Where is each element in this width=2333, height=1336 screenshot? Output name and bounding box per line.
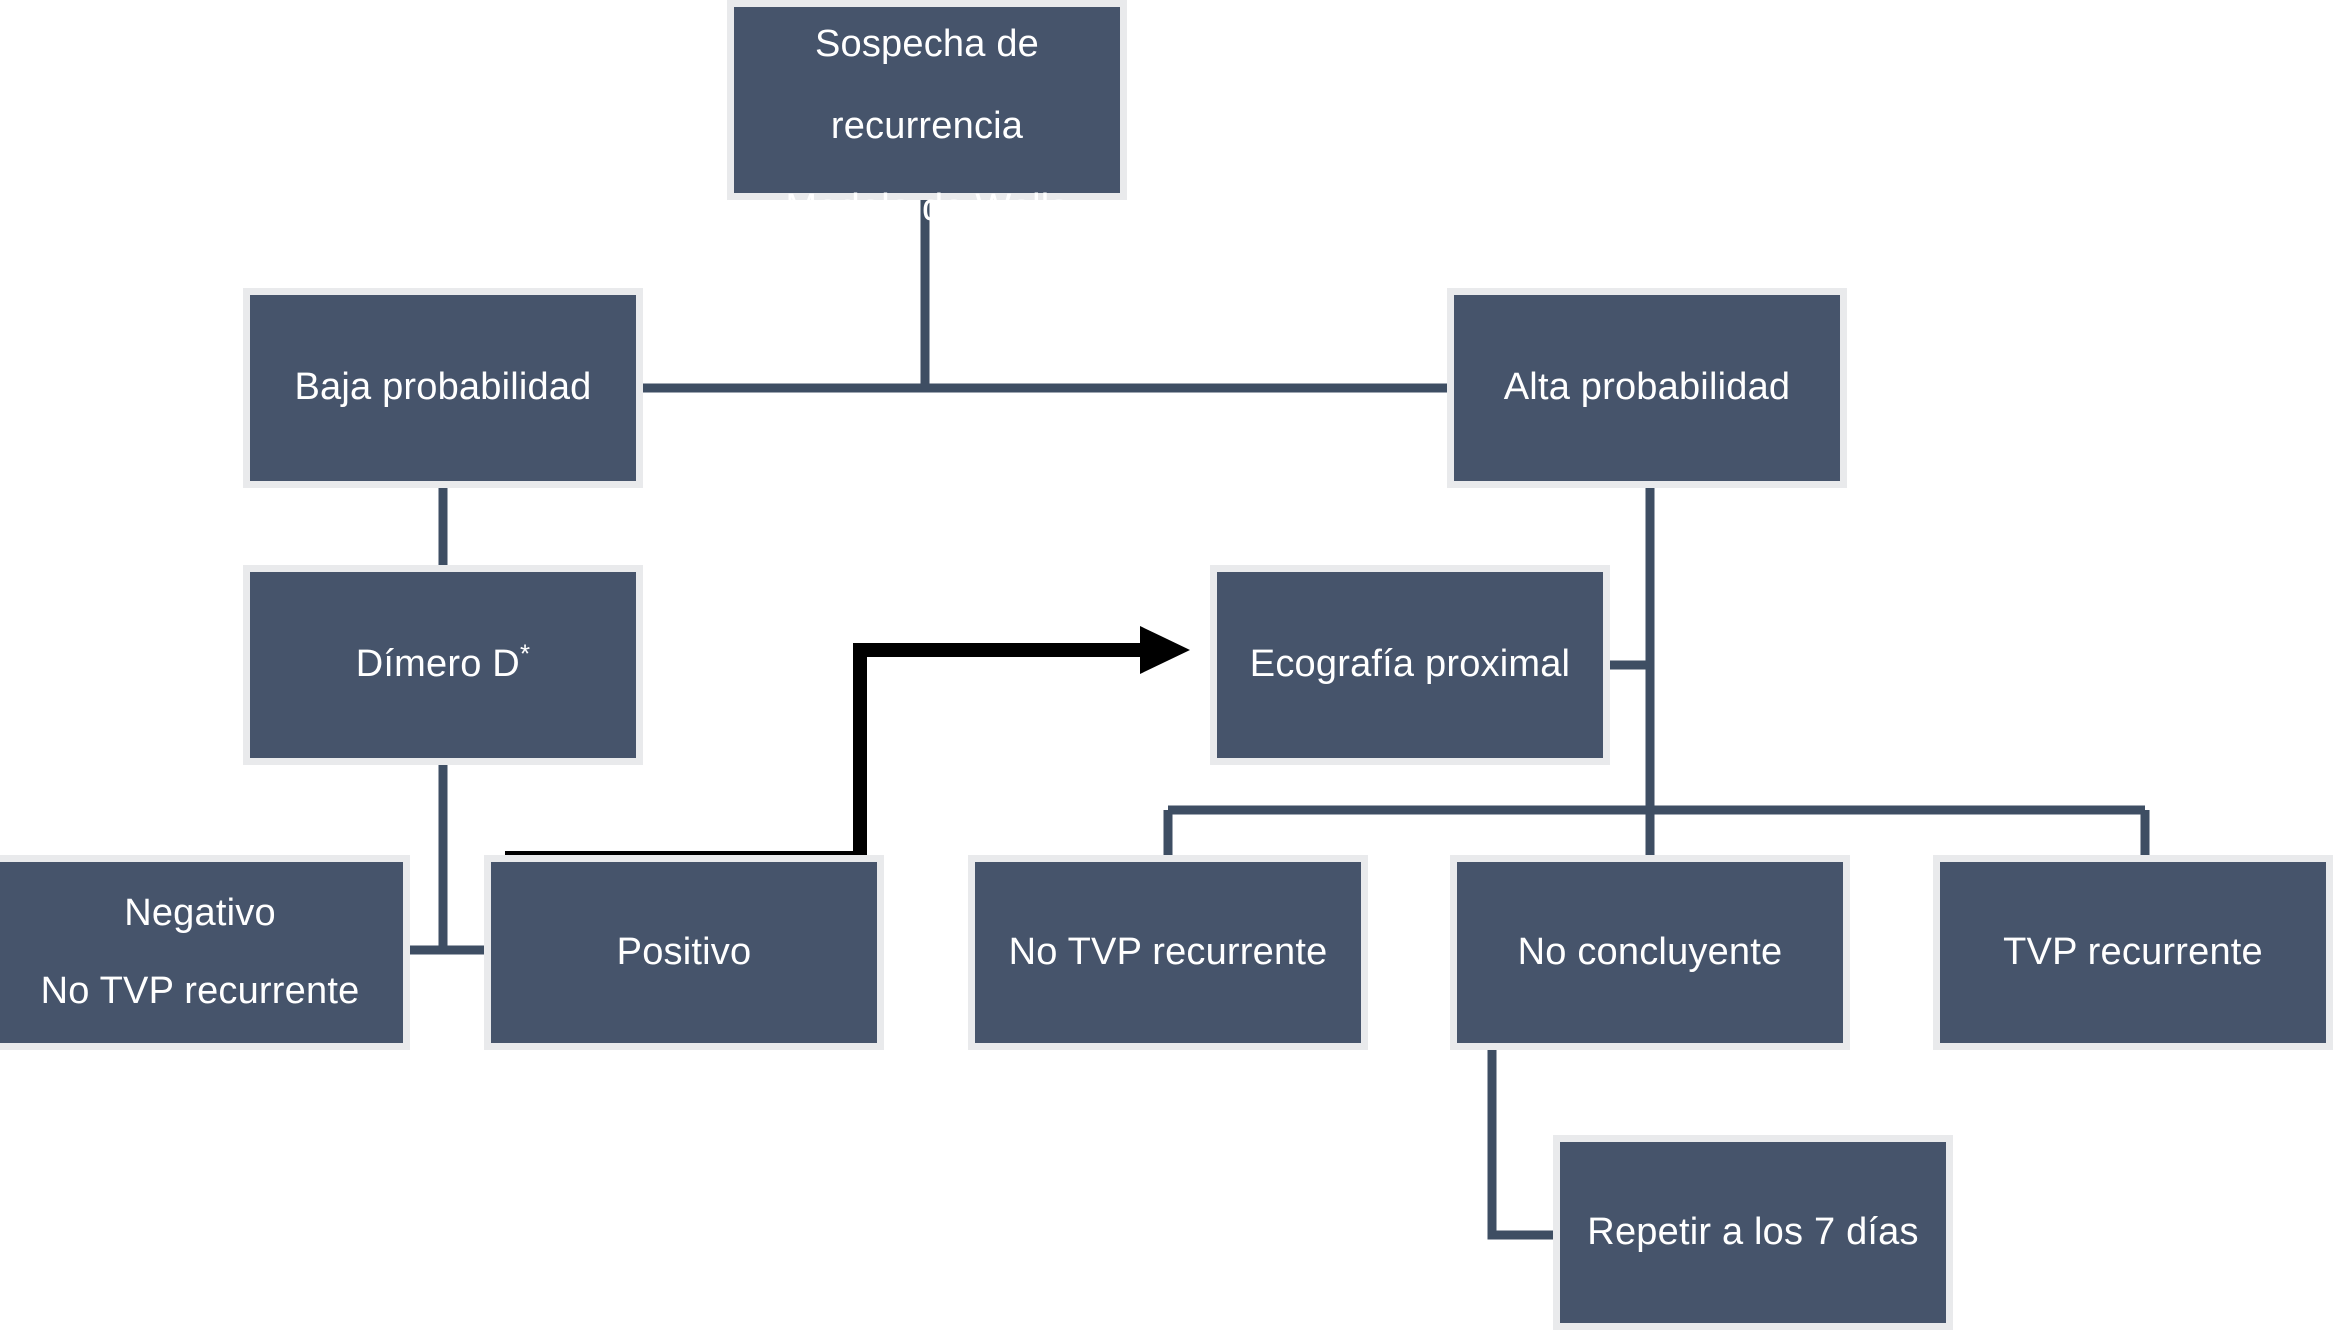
node-label-line: Sospecha de [815,21,1039,69]
flowchart-canvas: Sospecha de recurrencia Modelo de Wells … [0,0,2333,1336]
node-dimero-d[interactable]: Dímero D* [243,565,643,765]
node-no-tvp-recurrente[interactable]: No TVP recurrente [968,855,1368,1050]
node-label-line: TVP recurrente [2003,929,2263,977]
node-label-line: Alta probabilidad [1504,364,1791,412]
node-label-line: Modelo de Wells [785,185,1068,233]
node-label-line: Positivo [617,929,752,977]
node-label-line: Dímero D* [356,641,530,689]
node-label-line: Repetir a los 7 días [1587,1209,1918,1257]
node-baja-probabilidad[interactable]: Baja probabilidad [243,288,643,488]
node-sospecha-recurrencia[interactable]: Sospecha de recurrencia Modelo de Wells [727,0,1127,200]
node-label-line: No TVP recurrente [1009,929,1328,977]
node-repetir-7-dias[interactable]: Repetir a los 7 días [1553,1135,1953,1330]
node-positivo[interactable]: Positivo [484,855,884,1050]
node-ecografia-proximal[interactable]: Ecografía proximal [1210,565,1610,765]
node-negativo-no-tvp-recurrente[interactable]: Negativo No TVP recurrente [0,855,410,1050]
node-label-line: Negativo [124,890,276,938]
node-label-line: No TVP recurrente [41,968,360,1016]
edge-noconcluyente-to-repetir [1492,1048,1558,1235]
node-no-concluyente[interactable]: No concluyente [1450,855,1850,1050]
node-label-line: recurrencia [831,103,1023,151]
node-alta-probabilidad[interactable]: Alta probabilidad [1447,288,1847,488]
node-tvp-recurrente[interactable]: TVP recurrente [1933,855,2333,1050]
footnote-asterisk: * [520,640,530,668]
node-label-line: No concluyente [1518,929,1783,977]
node-label-line: Ecografía proximal [1250,641,1570,689]
node-label-line: Baja probabilidad [294,364,591,412]
dimero-text: Dímero D [356,643,520,685]
